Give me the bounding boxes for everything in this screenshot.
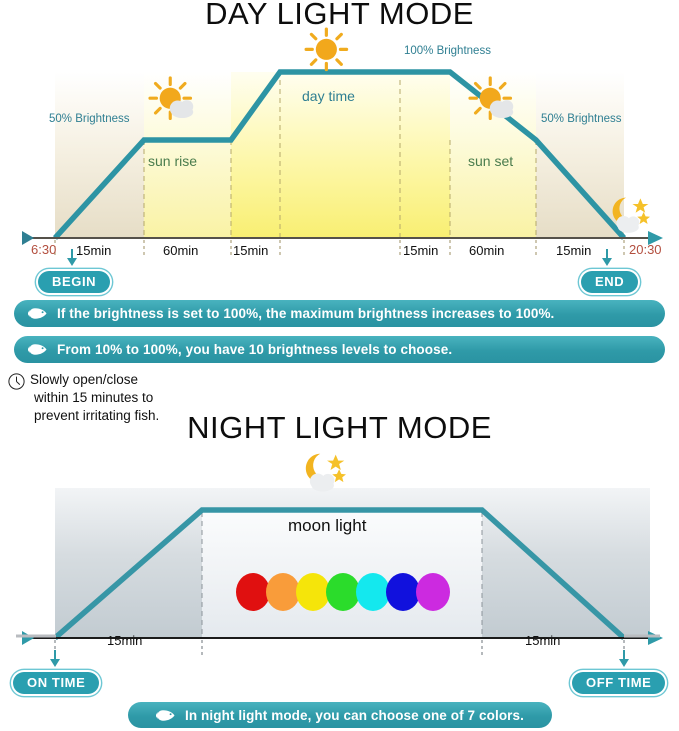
night-segment-duration-1: 15min xyxy=(525,633,560,648)
day-right-brightness-label: 50% Brightness xyxy=(541,113,622,125)
night-light-chart xyxy=(0,450,679,690)
end-button[interactable]: END xyxy=(581,271,638,293)
day-segment-duration-2: 15min xyxy=(233,243,268,258)
day-end-pointer xyxy=(602,249,612,266)
begin-button[interactable]: BEGIN xyxy=(38,271,110,293)
night-off-time-pointer xyxy=(619,650,629,667)
day-segment-duration-3: 15min xyxy=(403,243,438,258)
banner-text: From 10% to 100%, you have 10 brightness… xyxy=(57,342,651,357)
moon-stars-cloud-icon xyxy=(613,198,650,233)
day-segment-duration-5: 15min xyxy=(556,243,591,258)
moon-light-label: moon light xyxy=(288,516,366,536)
fish-icon xyxy=(156,709,176,722)
night-segment-duration-0: 15min xyxy=(107,633,142,648)
night-on-time-pointer xyxy=(50,650,60,667)
note-line-2: within 15 minutes to xyxy=(30,389,208,407)
day-segment-duration-4: 60min xyxy=(469,243,504,258)
day-peak-brightness-label: 100% Brightness xyxy=(404,45,491,57)
off-time-button[interactable]: OFF TIME xyxy=(572,672,665,694)
sun-icon xyxy=(306,29,346,69)
day-axis-ticks xyxy=(55,240,624,256)
color-swatch[interactable] xyxy=(326,573,360,611)
fish-icon xyxy=(28,307,48,320)
sun-set-label: sun set xyxy=(468,153,513,169)
sun-rise-label: sun rise xyxy=(148,153,197,169)
banner-text: If the brightness is set to 100%, the ma… xyxy=(57,306,651,321)
day-segment-duration-1: 60min xyxy=(163,243,198,258)
day-left-brightness-label: 50% Brightness xyxy=(49,113,130,125)
moon-stars-cloud-icon xyxy=(306,454,346,492)
day-segment-duration-0: 15min xyxy=(76,243,111,258)
clock-icon xyxy=(8,373,25,395)
day-end-time-label: 20:30 xyxy=(629,242,662,257)
banner-brightness-max: If the brightness is set to 100%, the ma… xyxy=(14,300,665,327)
fish-icon xyxy=(28,343,48,356)
infographic-root: DAY LIGHT MODE xyxy=(0,0,679,731)
color-swatch[interactable] xyxy=(236,573,270,611)
color-swatch[interactable] xyxy=(356,573,390,611)
day-time-label: day time xyxy=(302,88,355,104)
color-swatch[interactable] xyxy=(266,573,300,611)
color-swatch[interactable] xyxy=(386,573,420,611)
day-start-time-label: 6:30 xyxy=(31,242,56,257)
night-mode-title: NIGHT LIGHT MODE xyxy=(0,410,679,446)
color-swatch[interactable] xyxy=(296,573,330,611)
note-line-1: Slowly open/close xyxy=(30,371,208,389)
banner-night-colors: In night light mode, you can choose one … xyxy=(128,702,552,728)
color-swatch[interactable] xyxy=(416,573,450,611)
banner-text: In night light mode, you can choose one … xyxy=(185,708,524,723)
banner-brightness-levels: From 10% to 100%, you have 10 brightness… xyxy=(14,336,665,363)
on-time-button[interactable]: ON TIME xyxy=(13,672,99,694)
